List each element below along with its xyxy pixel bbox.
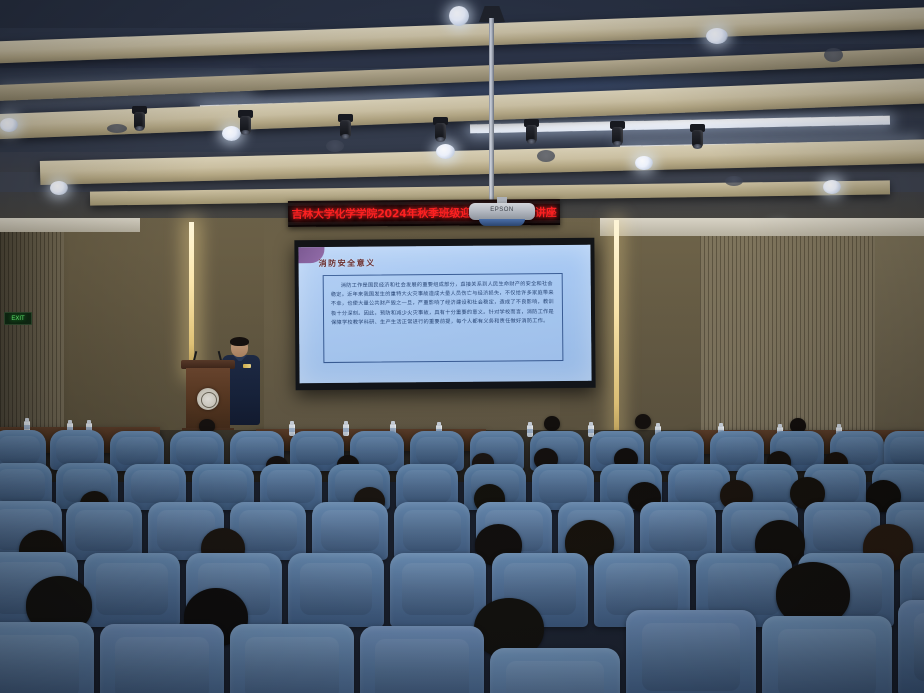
stage-spotlight — [237, 110, 254, 136]
downlight-icon — [635, 156, 653, 170]
ceiling-speaker-icon — [537, 150, 555, 162]
projected-slide: 消防安全意义 消防工作是国民经济和社会发展的重要组成部分，直接关系到人民生命财产… — [298, 245, 591, 384]
downlight-icon — [706, 28, 728, 44]
auditorium-photo: EXIT 吉林大学化学学院2024年秋季班级迎生和消防安全讲座 EPSON 消防… — [0, 0, 924, 693]
stage-spotlight — [337, 114, 354, 140]
auditorium-seat — [230, 624, 354, 693]
led-strip-light — [189, 222, 194, 374]
audience-person — [632, 414, 654, 432]
auditorium-seat — [490, 648, 620, 693]
projector-brand-label: EPSON — [469, 207, 535, 213]
led-strip-light — [614, 220, 619, 450]
auditorium-seat — [394, 502, 470, 560]
auditorium-seat — [626, 610, 756, 693]
stage-spotlight — [523, 119, 540, 145]
stage-spotlight — [609, 121, 626, 147]
auditorium-seat — [762, 616, 892, 693]
auditorium-seat — [100, 624, 224, 693]
auditorium-seat — [66, 502, 142, 560]
stage-spotlight — [432, 117, 449, 143]
slide-title: 消防安全意义 — [319, 258, 376, 269]
downlight-icon — [449, 6, 469, 26]
ceiling-vent-icon — [725, 176, 743, 186]
downlight-icon — [823, 180, 841, 194]
downlight-icon — [436, 144, 455, 159]
auditorium-seat — [640, 502, 716, 560]
projector: EPSON — [469, 201, 535, 226]
downlight-icon — [0, 118, 18, 132]
auditorium-seat — [0, 622, 94, 693]
stage-spotlight — [689, 124, 706, 150]
exit-sign: EXIT — [4, 312, 32, 325]
auditorium-seat — [288, 553, 384, 627]
ceiling-speaker-icon — [824, 48, 843, 62]
downlight-icon — [50, 181, 68, 195]
ceiling-vent-icon — [107, 124, 127, 133]
water-bottle — [343, 421, 349, 436]
university-seal-emblem — [197, 388, 219, 410]
wall-trim — [0, 218, 140, 232]
exit-sign-label: EXIT — [11, 316, 24, 322]
water-bottle — [527, 422, 533, 437]
projector-pole — [489, 18, 494, 218]
auditorium-seat — [898, 600, 924, 693]
ceiling-speaker-icon — [326, 140, 344, 152]
auditorium-seat — [360, 626, 484, 693]
slide-text-box: 消防工作是国民经济和社会发展的重要组成部分，直接关系到人民生命财产的安全和社会稳… — [323, 273, 564, 363]
auditorium-seat — [312, 502, 388, 560]
stage-spotlight — [131, 106, 148, 132]
slide-body-text: 消防工作是国民经济和社会发展的重要组成部分，直接关系到人民生命财产的安全和社会稳… — [331, 280, 555, 328]
screen-valance — [600, 218, 924, 236]
